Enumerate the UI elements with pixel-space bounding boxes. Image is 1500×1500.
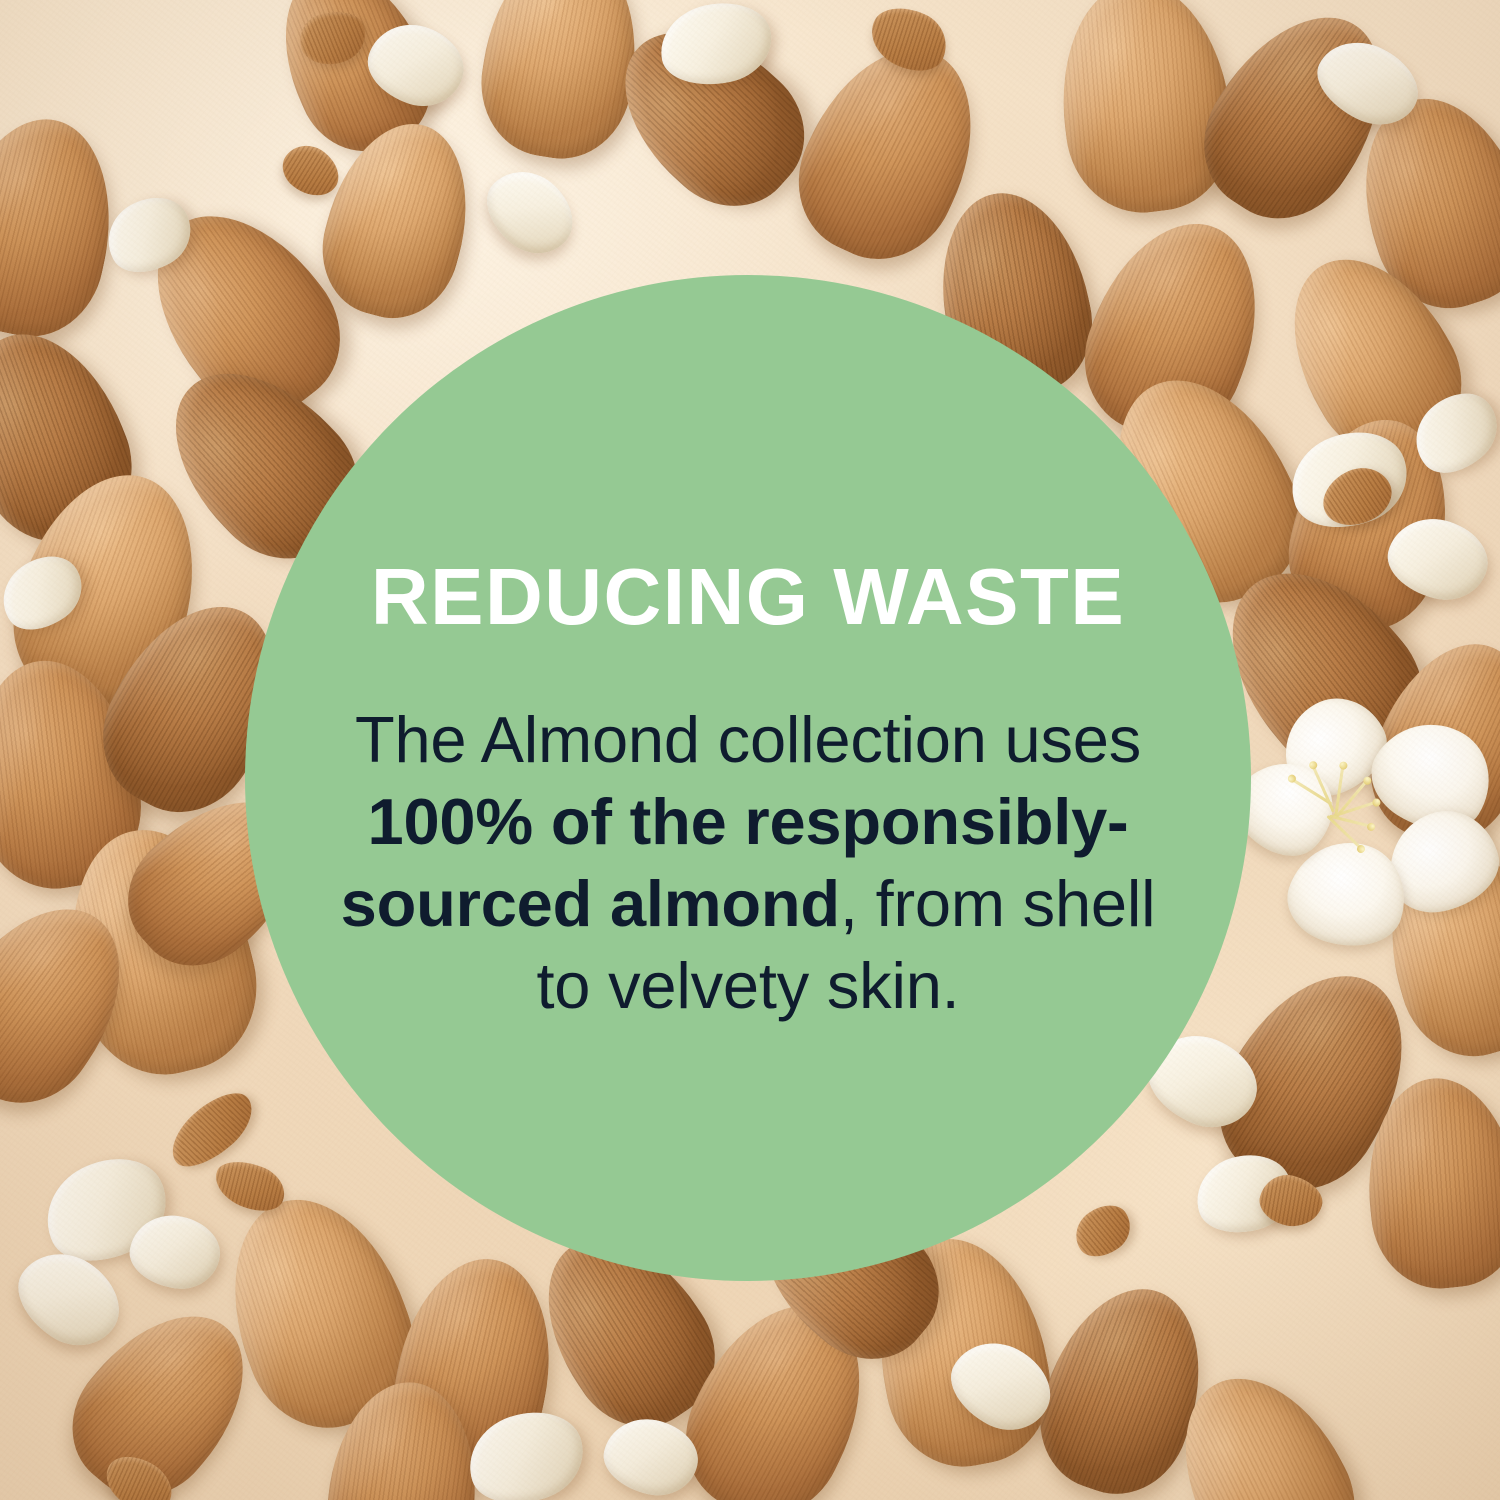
almond-shell-shard	[1066, 1196, 1140, 1267]
blossom-stamen	[1326, 815, 1361, 849]
blossom-stamen	[1292, 778, 1333, 805]
body-text-0: The Almond collection uses	[355, 703, 1141, 776]
blossom-stamen	[1329, 815, 1370, 828]
reducing-waste-callout-circle: REDUCING WASTE The Almond collection use…	[245, 275, 1251, 1281]
marketing-image: REDUCING WASTE The Almond collection use…	[0, 0, 1500, 1500]
blossom-stamen	[1333, 801, 1376, 817]
blossom-stamen	[1334, 780, 1367, 819]
page-title: REDUCING WASTE	[371, 557, 1125, 637]
blanched-almond-piece	[472, 155, 589, 269]
callout-body-text: The Almond collection uses 100% of the r…	[308, 699, 1188, 1027]
